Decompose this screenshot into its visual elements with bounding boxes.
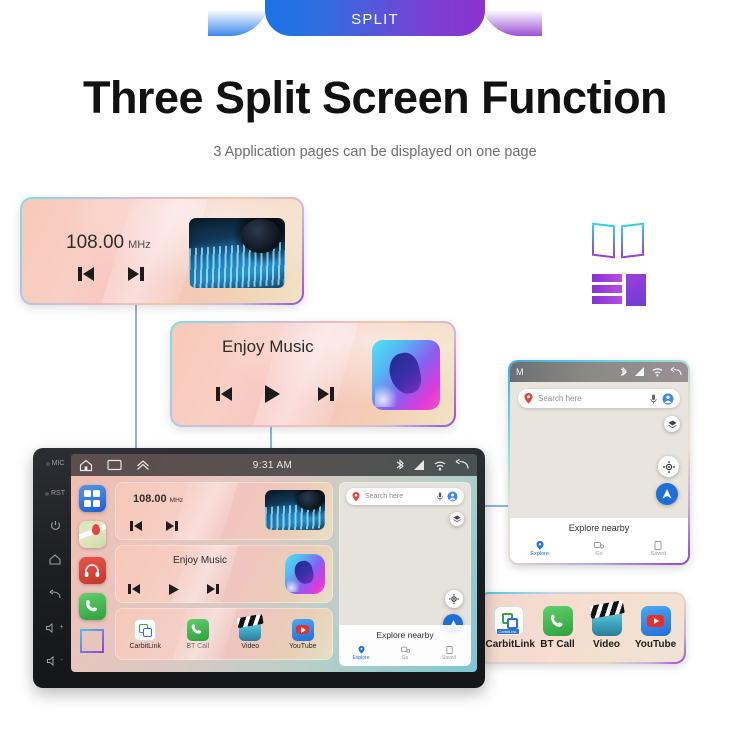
widget-map-bottom-nav: Explore Go Saved: [339, 644, 471, 666]
youtube-icon: [292, 619, 314, 641]
account-avatar-icon[interactable]: [662, 393, 674, 405]
widget-music-controls: [127, 583, 220, 596]
rst-label: RST: [51, 490, 65, 497]
widget-music-play-button[interactable]: [167, 583, 180, 596]
carbitlink-icon: [134, 619, 156, 641]
bluetooth-icon: [619, 367, 628, 378]
widget-app-video-label: Video: [228, 643, 272, 650]
widget-music-next-button[interactable]: [206, 583, 220, 596]
radio-next-button[interactable]: [126, 265, 146, 283]
microphone-icon[interactable]: [437, 492, 443, 501]
two-page-layout-icon: [592, 224, 644, 258]
widget-app-youtube-label: YouTube: [281, 643, 325, 650]
home-icon[interactable]: [49, 554, 61, 565]
app-carbitlink-label: CarbitLink: [486, 639, 532, 650]
app-video[interactable]: Video: [584, 606, 630, 650]
home-icon[interactable]: [79, 459, 93, 472]
radio-frequency-value: 108.00: [66, 232, 124, 253]
music-callout-card: Enjoy Music: [170, 321, 456, 427]
head-unit-device: MIC RST + - 9:31 AM: [33, 448, 485, 688]
signal-icon: [635, 367, 645, 377]
split-layout-icon: [592, 274, 646, 306]
back-icon[interactable]: [49, 589, 61, 600]
signal-icon: [414, 460, 425, 471]
widget-map-search-input[interactable]: Search here: [346, 488, 464, 505]
widget-app-carbitlink[interactable]: CarbitLink: [123, 619, 167, 650]
map-nav-saved-label: Saved: [629, 550, 688, 558]
map-layers-icon[interactable]: [664, 416, 680, 432]
youtube-icon: [641, 606, 671, 636]
map-nav-go[interactable]: Go: [569, 541, 628, 558]
map-explore-nearby-bar[interactable]: Explore nearby: [510, 517, 688, 537]
widget-music-album-art: [285, 554, 325, 594]
widget-radio-thumbnail: [265, 490, 325, 530]
app-dock-callout: CarbitLink CarbitLink BT Call Video YouT…: [478, 592, 686, 664]
map-nav-go-label: Go: [569, 550, 628, 558]
radio-prev-button[interactable]: [76, 265, 96, 283]
widget-app-youtube[interactable]: YouTube: [281, 619, 325, 650]
mic-label: MIC: [52, 460, 65, 467]
device-bezel-buttons: MIC RST + -: [39, 456, 71, 674]
banner-label: SPLIT: [351, 11, 399, 28]
back-icon[interactable]: [670, 367, 682, 377]
music-next-button[interactable]: [316, 385, 336, 403]
app-carbitlink[interactable]: CarbitLink CarbitLink: [486, 606, 532, 650]
map-pin-logo-icon: [524, 393, 533, 404]
widget-radio-prev-button[interactable]: [129, 520, 143, 532]
banner-pill: SPLIT: [265, 0, 485, 36]
widget-map-layers-icon[interactable]: [450, 512, 464, 526]
widget-map-explore-nearby[interactable]: Explore nearby: [339, 625, 471, 644]
widget-radio-controls: [129, 520, 179, 532]
widget-app-dock: CarbitLink BT Call Video: [115, 608, 333, 660]
clapperboard-icon: [239, 619, 261, 641]
chevron-up-icon[interactable]: [136, 459, 150, 471]
layout-icons-group: [592, 224, 646, 306]
app-youtube[interactable]: YouTube: [633, 606, 679, 650]
widget-map[interactable]: Search here Explore nearby: [339, 482, 471, 666]
radio-frequency-unit: MHz: [128, 239, 151, 251]
app-video-label: Video: [584, 639, 630, 650]
apps-grid-icon[interactable]: [79, 485, 106, 512]
carbitlink-icon: CarbitLink: [494, 606, 524, 636]
widget-music[interactable]: Enjoy Music: [115, 545, 333, 603]
widget-app-carbitlink-label: CarbitLink: [123, 643, 167, 650]
map-status-bar: M: [510, 362, 688, 382]
widget-map-nav-go-label: Go: [383, 654, 427, 662]
app-youtube-label: YouTube: [633, 639, 679, 650]
widget-map-nav-explore-label: Explore: [339, 654, 383, 662]
page-subtitle: 3 Application pages can be displayed on …: [0, 144, 750, 160]
screen-app-rail: [75, 482, 109, 666]
phone-icon[interactable]: [79, 593, 106, 620]
map-canvas[interactable]: Search here: [510, 382, 688, 517]
top-banner: SPLIT: [0, 0, 750, 42]
map-search-input[interactable]: Search here: [518, 389, 680, 408]
widget-map-nav-saved[interactable]: Saved: [427, 644, 471, 666]
screen-status-bar: 9:31 AM: [71, 454, 477, 476]
map-nav-explore[interactable]: Explore: [510, 541, 569, 558]
widget-radio-frequency: 108.00MHz: [133, 493, 183, 505]
map-nav-explore-label: Explore: [510, 550, 569, 558]
widget-radio-frequency-value: 108.00: [133, 493, 167, 505]
widget-radio[interactable]: 108.00MHz: [115, 482, 333, 540]
volume-up-label: +: [59, 624, 63, 631]
music-play-button[interactable]: [262, 383, 282, 405]
clapperboard-icon: [592, 606, 622, 636]
radio-callout-card: 108.00MHz: [20, 197, 304, 305]
banner-flare-left: [208, 0, 270, 36]
banner-flare-right: [480, 0, 542, 36]
map-pin-logo-icon: [352, 492, 360, 502]
music-headphones-icon[interactable]: [79, 557, 106, 584]
map-status-time-fragment: M: [516, 367, 524, 377]
music-album-art: [372, 340, 440, 410]
map-callout-panel: M Search here: [508, 360, 690, 565]
app-bt-call[interactable]: BT Call: [535, 606, 581, 650]
account-avatar-icon[interactable]: [447, 491, 458, 502]
my-location-icon[interactable]: [658, 456, 679, 477]
reset-dot-icon[interactable]: RST: [45, 490, 65, 497]
map-bottom-nav: Explore Go Saved: [510, 537, 688, 563]
music-title: Enjoy Music: [222, 337, 314, 357]
map-nav-saved[interactable]: Saved: [629, 541, 688, 558]
bluetooth-icon: [395, 459, 405, 471]
wifi-icon: [652, 367, 663, 377]
widget-music-prev-button[interactable]: [127, 583, 141, 596]
phone-icon: [543, 606, 573, 636]
widget-map-locate-icon[interactable]: [445, 590, 463, 608]
widget-radio-frequency-unit: MHz: [170, 497, 183, 504]
widget-app-video[interactable]: Video: [228, 619, 272, 650]
status-bar-time: 9:31 AM: [150, 460, 395, 471]
power-icon[interactable]: [50, 520, 61, 531]
navigate-fab-icon[interactable]: [656, 483, 678, 505]
widget-map-nav-explore[interactable]: Explore: [339, 644, 383, 666]
widget-map-search-placeholder: Search here: [365, 493, 437, 500]
wifi-icon: [434, 460, 446, 471]
volume-down-icon[interactable]: -: [47, 656, 62, 666]
back-icon[interactable]: [455, 459, 469, 471]
phone-icon: [187, 619, 209, 641]
carbitlink-badge: CarbitLink: [497, 629, 519, 634]
widget-radio-next-button[interactable]: [165, 520, 179, 532]
radio-frequency: 108.00MHz: [66, 232, 151, 254]
device-screen: 9:31 AM: [71, 454, 477, 672]
widget-map-nav-saved-label: Saved: [427, 654, 471, 662]
page-title: Three Split Screen Function: [0, 72, 750, 124]
mic-dot-icon: MIC: [46, 460, 65, 467]
radio-thumbnail-image: [189, 218, 285, 288]
microphone-icon[interactable]: [650, 394, 657, 404]
widget-map-nav-go[interactable]: Go: [383, 644, 427, 666]
volume-up-icon[interactable]: +: [46, 623, 63, 633]
maps-icon[interactable]: [79, 521, 106, 548]
map-search-placeholder: Search here: [538, 394, 650, 403]
app-bt-call-label: BT Call: [535, 639, 581, 650]
music-prev-button[interactable]: [214, 385, 234, 403]
recents-icon[interactable]: [107, 459, 122, 471]
assistant-ring-icon[interactable]: [80, 629, 104, 653]
volume-down-label: -: [60, 657, 62, 664]
screen-widget-column: 108.00MHz Enjoy Music: [115, 482, 333, 666]
